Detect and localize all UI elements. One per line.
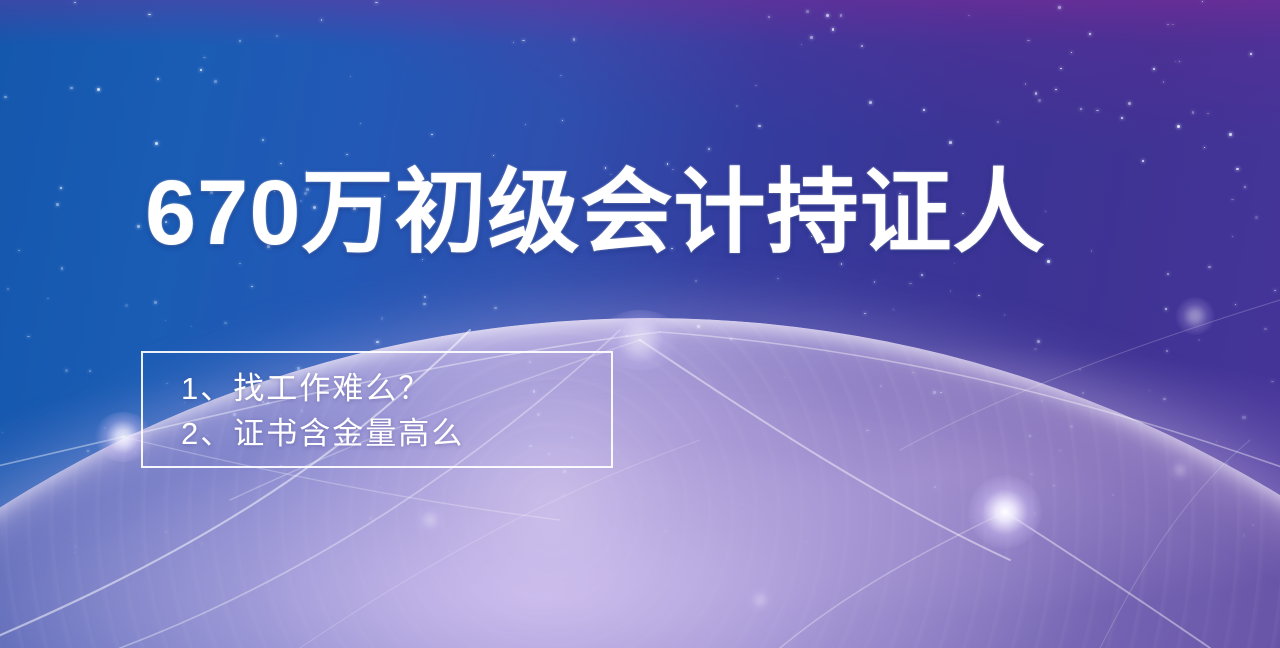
network-node-glow — [1167, 458, 1193, 482]
network-node-glow — [1175, 297, 1215, 335]
list-item: 1、找工作难么？ — [181, 366, 464, 411]
question-box: 1、找工作难么？ 2、证书含金量高么 — [141, 351, 613, 468]
promo-banner: 670万初级会计持证人 1、找工作难么？ 2、证书含金量高么 — [0, 0, 1280, 648]
network-node-glow — [745, 587, 775, 613]
network-node-glow — [968, 475, 1042, 549]
question-list: 1、找工作难么？ 2、证书含金量高么 — [181, 366, 464, 456]
page-title: 670万初级会计持证人 — [145, 165, 1046, 263]
network-node-glow — [413, 505, 447, 535]
list-item: 2、证书含金量高么 — [181, 411, 464, 456]
